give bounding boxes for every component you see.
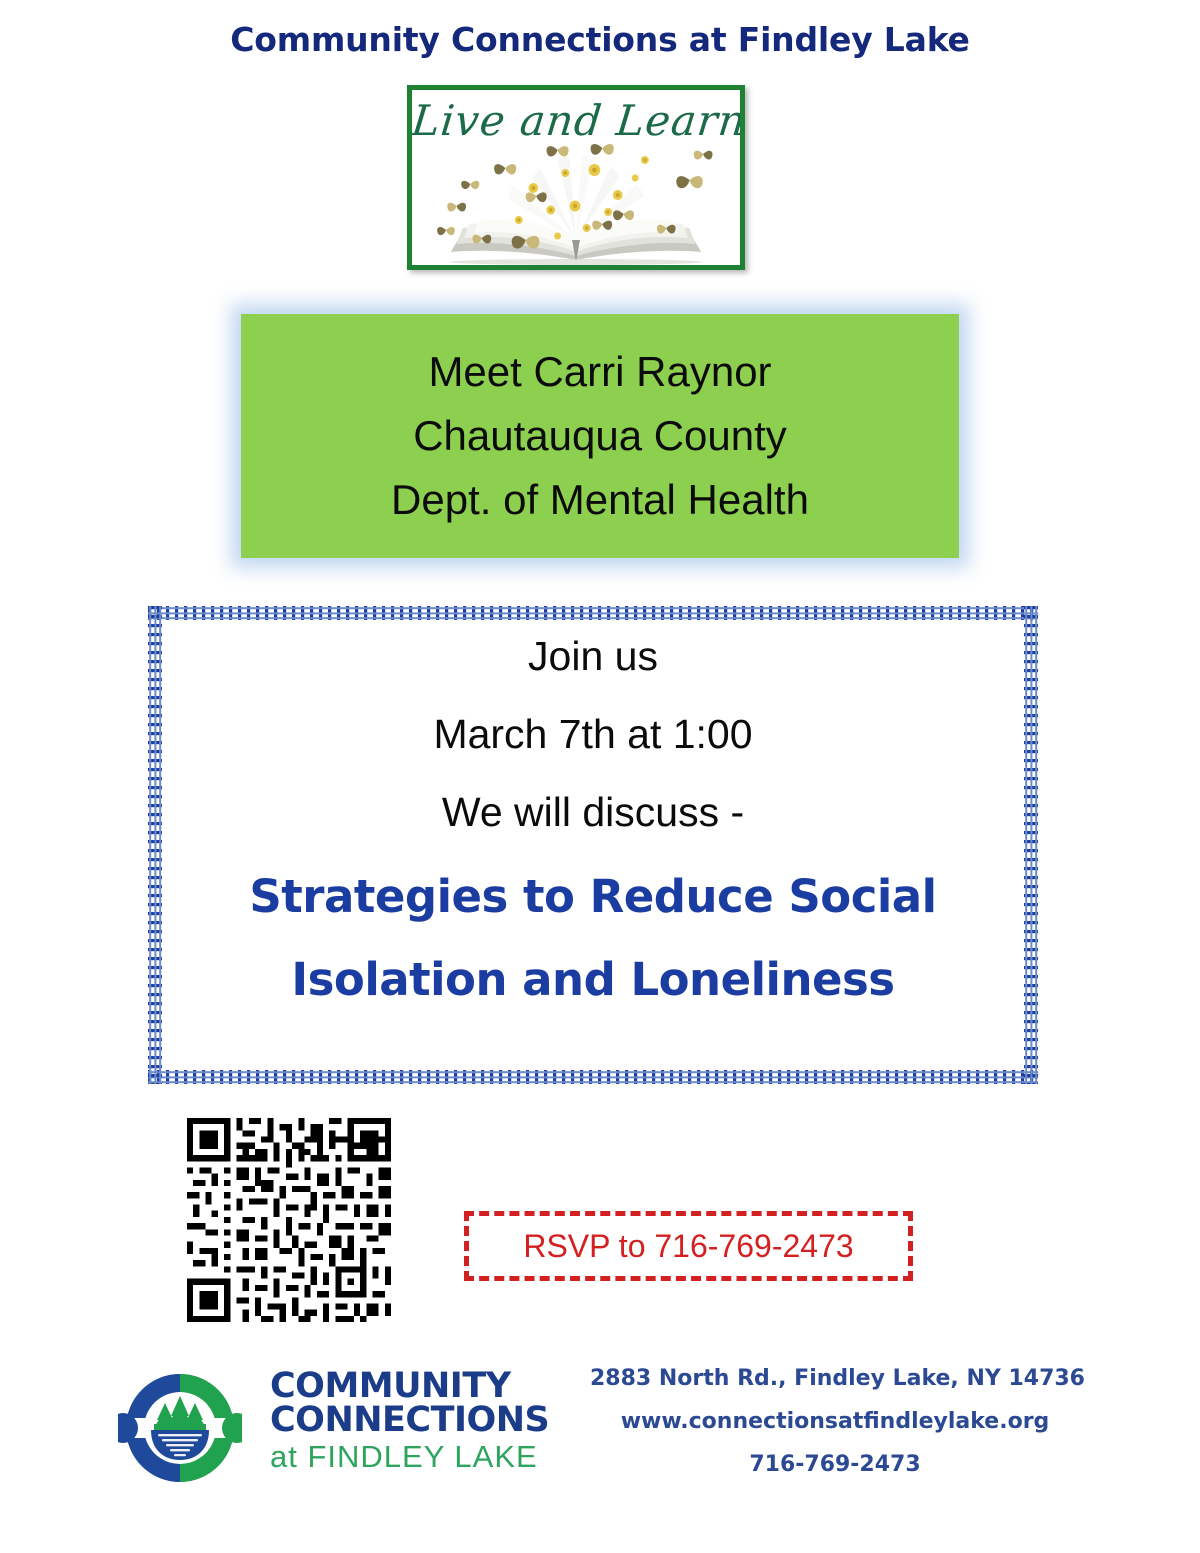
speaker-line-name: Meet Carri Raynor	[428, 351, 771, 393]
speaker-line-department: Dept. of Mental Health	[391, 479, 809, 521]
logo-wordmark: COMMUNITY CONNECTIONS at FINDLEY LAKE	[270, 1369, 560, 1474]
live-and-learn-logo: Live and Learn	[407, 85, 745, 270]
event-line-join: Join us	[528, 636, 658, 677]
open-book-with-butterflies-and-flowers-icon	[412, 140, 740, 265]
contact-phone[interactable]: 716-769-2473	[590, 1454, 1080, 1476]
event-line-datetime: March 7th at 1:00	[433, 714, 752, 755]
contact-website[interactable]: www.connectionsatfindleylake.org	[590, 1411, 1080, 1433]
community-connections-logo: COMMUNITY CONNECTIONS at FINDLEY LAKE	[118, 1366, 558, 1491]
wordmark-line-findley-lake: at FINDLEY LAKE	[270, 1440, 560, 1475]
event-line-discuss: We will discuss -	[442, 792, 744, 833]
page-title: Community Connections at Findley Lake	[0, 20, 1200, 59]
event-topic-line-2: Isolation and Loneliness	[291, 957, 894, 1002]
wordmark-line-connections: CONNECTIONS	[270, 1403, 560, 1437]
event-details-box: Join us March 7th at 1:00 We will discus…	[148, 606, 1038, 1084]
qr-code[interactable]	[186, 1118, 392, 1322]
wordmark-line-community: COMMUNITY	[270, 1369, 560, 1403]
live-and-learn-script-text: Live and Learn	[409, 96, 742, 145]
footer-contact-info: 2883 North Rd., Findley Lake, NY 14736 w…	[590, 1368, 1080, 1497]
lake-and-trees-emblem-icon	[118, 1366, 242, 1490]
speaker-line-org: Chautauqua County	[413, 415, 787, 457]
event-topic-line-1: Strategies to Reduce Social	[249, 874, 936, 919]
rsvp-text: RSVP to 716-769-2473	[523, 1228, 853, 1265]
contact-address: 2883 North Rd., Findley Lake, NY 14736	[590, 1368, 1080, 1390]
rsvp-box: RSVP to 716-769-2473	[464, 1211, 913, 1281]
speaker-info-box: Meet Carri Raynor Chautauqua County Dept…	[241, 314, 959, 558]
